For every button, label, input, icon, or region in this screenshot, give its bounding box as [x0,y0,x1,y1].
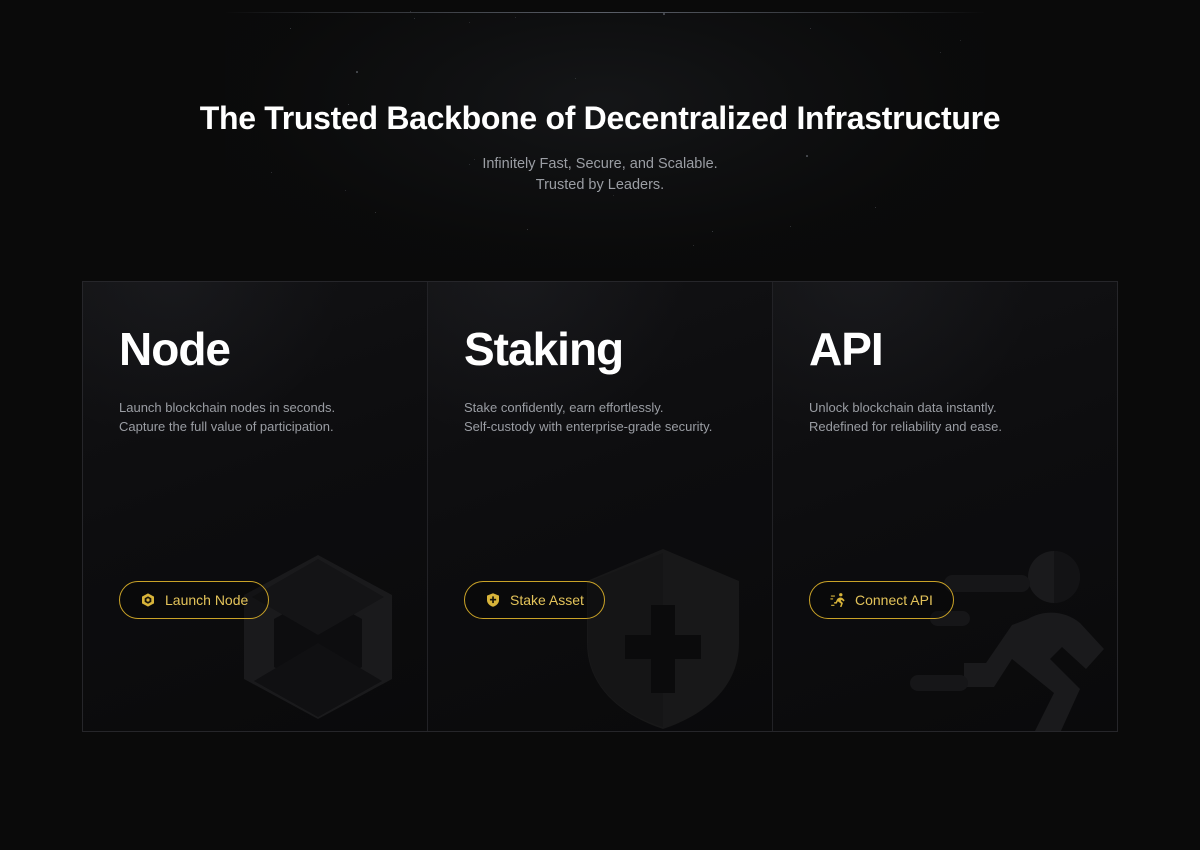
card-description-line-2: Redefined for reliability and ease. [809,417,1117,436]
feature-cards-panel: Node Launch blockchain nodes in seconds.… [82,281,1118,732]
card-content: Node Launch blockchain nodes in seconds.… [83,282,427,731]
card-description: Unlock blockchain data instantly. Redefi… [809,398,1117,436]
card-description-line-2: Capture the full value of participation. [119,417,427,436]
card-description: Stake confidently, earn effortlessly. Se… [464,398,772,436]
card-title: API [809,322,1117,376]
hero-subtitle-line-1: Infinitely Fast, Secure, and Scalable. [0,154,1200,175]
feature-card-node[interactable]: Node Launch blockchain nodes in seconds.… [83,282,427,731]
feature-card-api[interactable]: API Unlock blockchain data instantly. Re… [772,282,1117,731]
card-description: Launch blockchain nodes in seconds. Capt… [119,398,427,436]
card-title: Staking [464,322,772,376]
landing-page: The Trusted Backbone of Decentralized In… [0,0,1200,850]
card-description-line-2: Self-custody with enterprise-grade secur… [464,417,772,436]
card-content: Staking Stake confidently, earn effortle… [428,282,772,731]
hero-subtitle: Infinitely Fast, Secure, and Scalable. T… [0,154,1200,196]
feature-card-staking[interactable]: Staking Stake confidently, earn effortle… [427,282,772,731]
card-description-line-1: Launch blockchain nodes in seconds. [119,398,427,417]
hero-section: The Trusted Backbone of Decentralized In… [0,0,1200,268]
card-title: Node [119,322,427,376]
card-description-line-1: Unlock blockchain data instantly. [809,398,1117,417]
hero-title: The Trusted Backbone of Decentralized In… [0,96,1200,140]
hero-subtitle-line-2: Trusted by Leaders. [0,175,1200,196]
card-content: API Unlock blockchain data instantly. Re… [773,282,1117,731]
card-description-line-1: Stake confidently, earn effortlessly. [464,398,772,417]
